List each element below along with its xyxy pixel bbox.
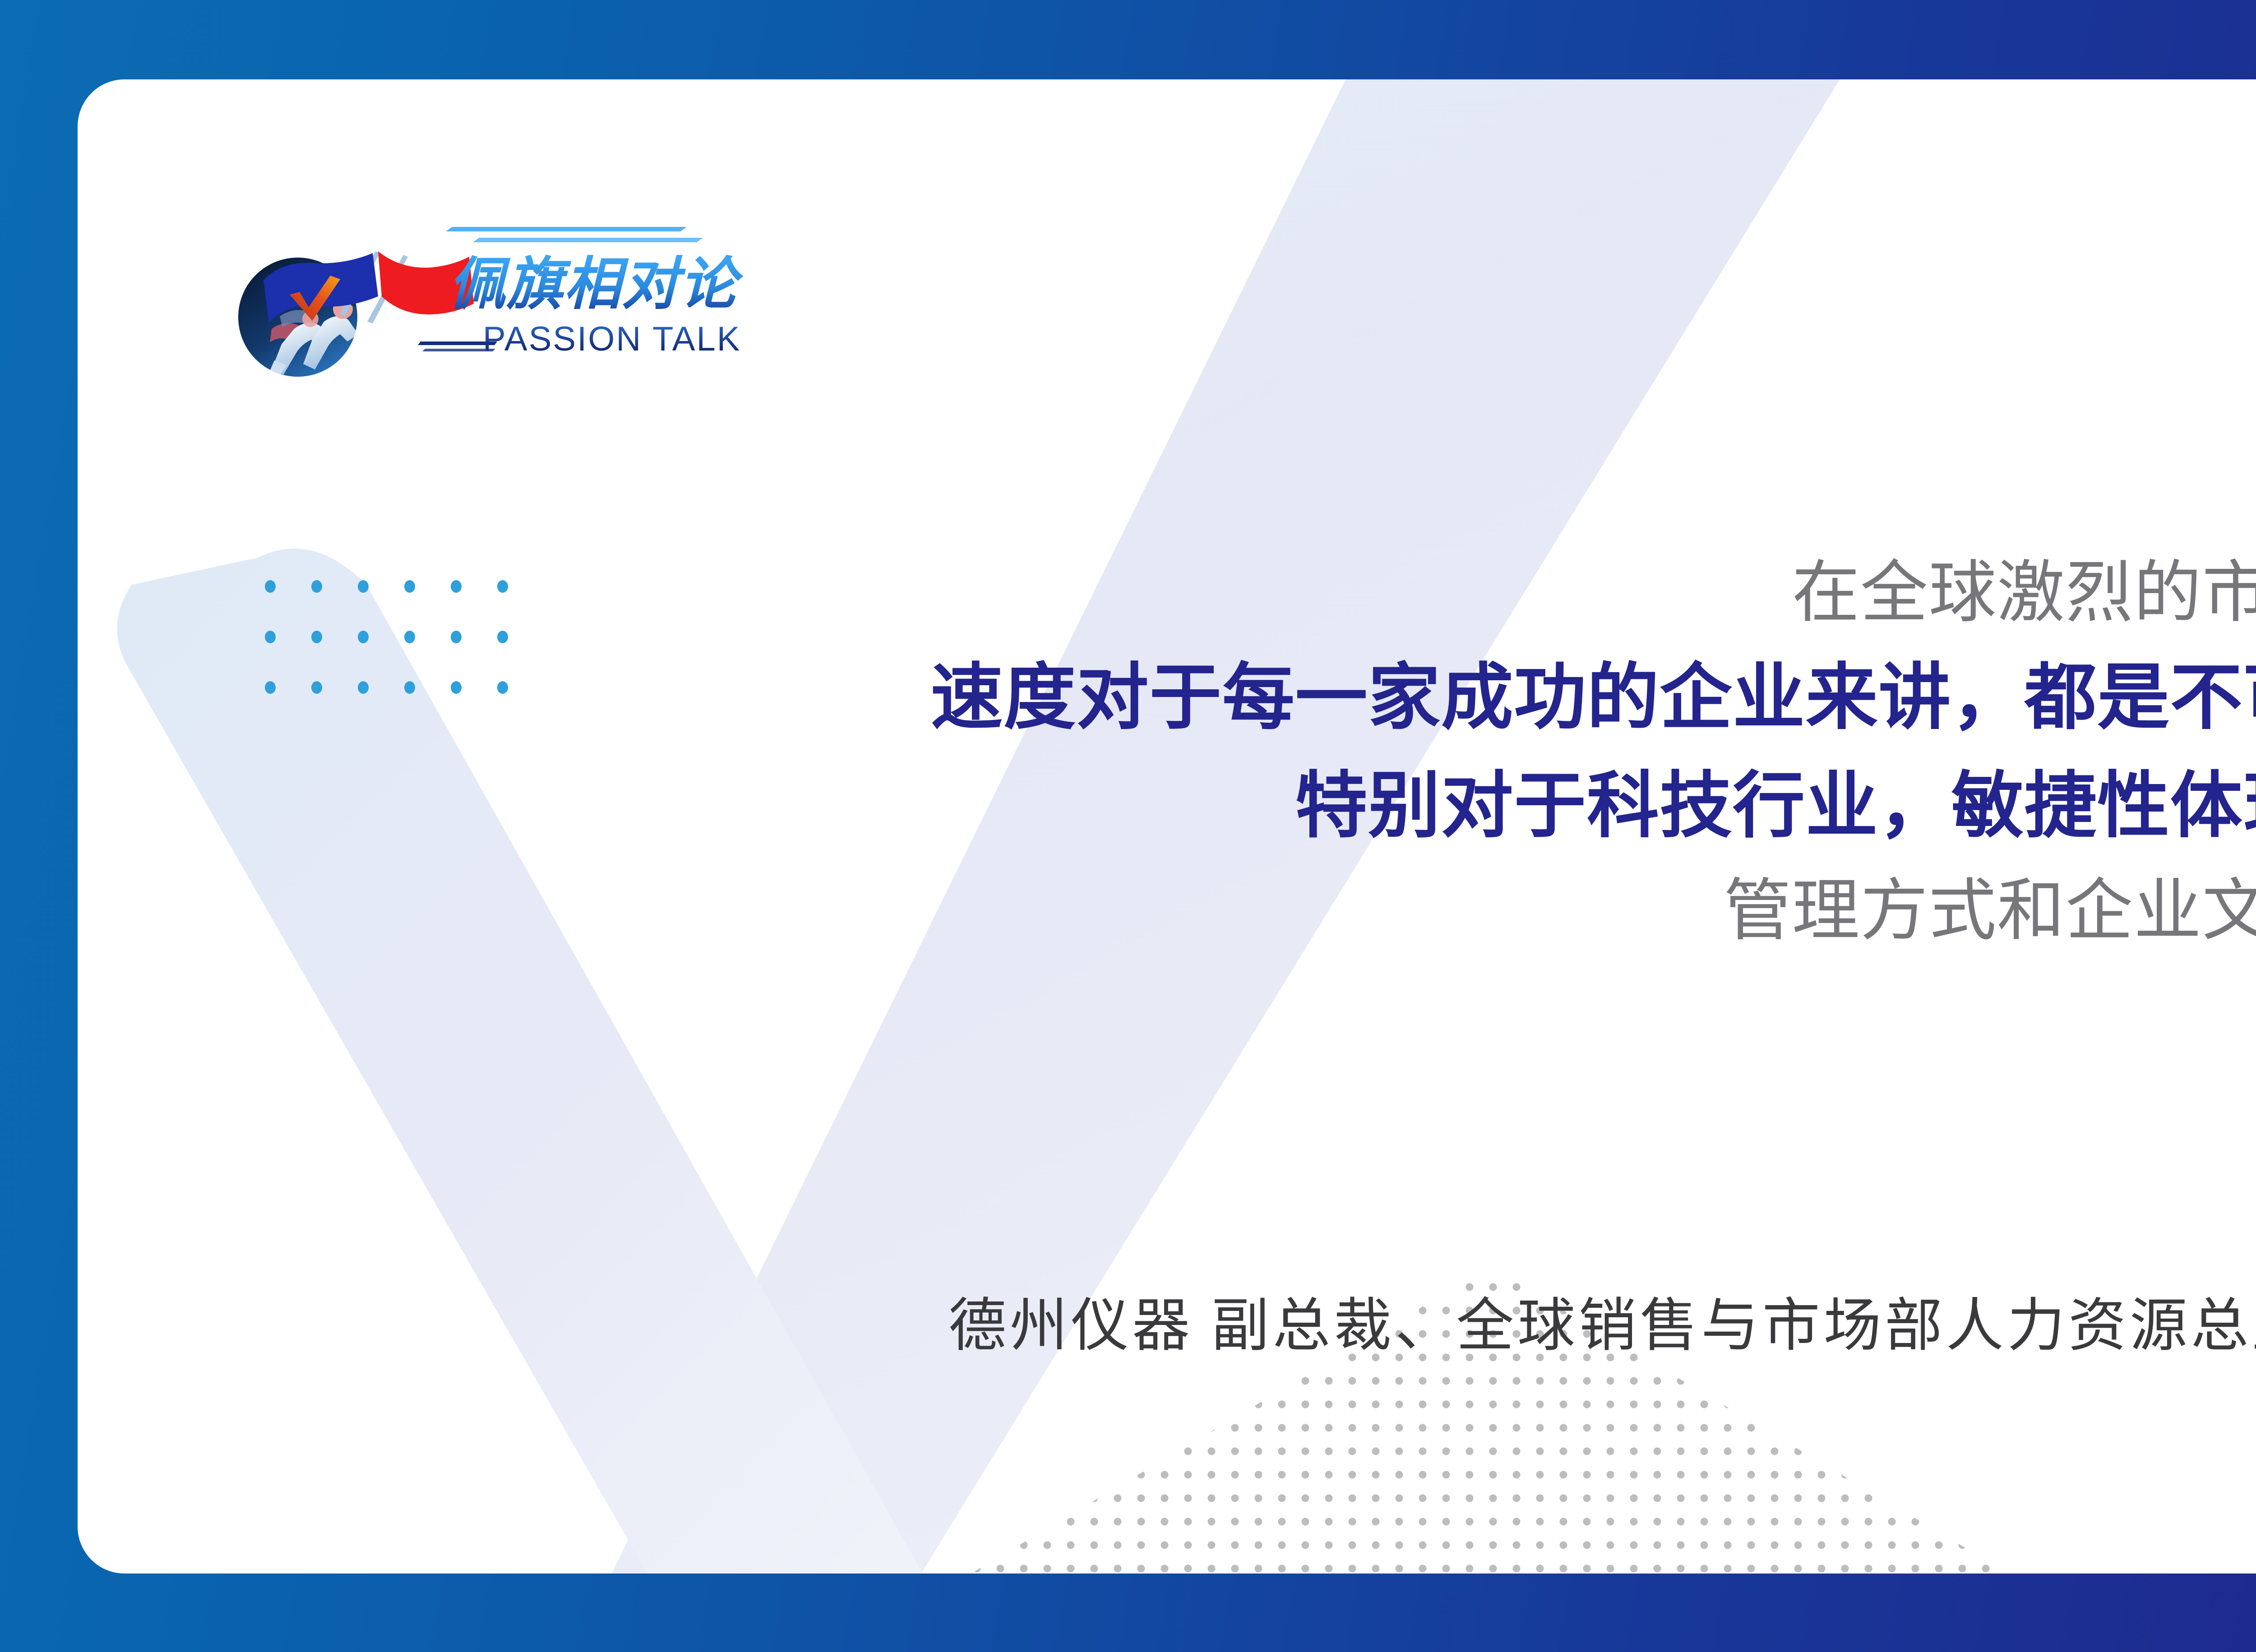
quote-block: 在全球激烈的市场竞争环境下 速度对于每一家成功的企业来讲，都是不可或缺的因素 特… <box>470 542 2256 961</box>
quote-line-4: 管理方式和企业文化等各个方面 <box>470 860 2256 961</box>
logo-title-en: PASSION TALK <box>483 320 741 358</box>
dot <box>311 580 322 593</box>
dot <box>358 631 369 643</box>
dot <box>311 631 322 643</box>
quote-attribution: 德州仪器 副总裁、全球销售与市场部人力资源总监——祝薇女士 <box>425 1278 2256 1362</box>
dot <box>451 580 462 593</box>
dot-pattern-top-right <box>2205 79 2256 485</box>
quote-line-1: 在全球激烈的市场竞争环境下 <box>470 542 2256 643</box>
quote-line-2: 速度对于每一家成功的企业来讲，都是不可或缺的因素 <box>470 643 2256 752</box>
dot <box>265 681 276 694</box>
dot <box>404 631 415 643</box>
dot <box>451 631 462 643</box>
dot <box>265 580 276 593</box>
dot <box>311 681 322 694</box>
dot <box>358 580 369 593</box>
slide-canvas: 佩旗相对论 PASSION TALK 在全球激烈的市场竞争环境下 速度对于每一家… <box>0 0 2256 1652</box>
quote-line-3: 特别对于科技行业，敏捷性体现在组织架构 <box>470 752 2256 860</box>
dot <box>358 681 369 694</box>
dot <box>451 681 462 694</box>
content-card: 佩旗相对论 PASSION TALK 在全球激烈的市场竞争环境下 速度对于每一家… <box>78 79 2256 1574</box>
logo-title-cn: 佩旗相对论 <box>448 252 744 316</box>
dot <box>404 681 415 694</box>
dot <box>265 631 276 643</box>
dot <box>404 580 415 593</box>
brand-logo[interactable]: 佩旗相对论 PASSION TALK <box>227 208 791 397</box>
